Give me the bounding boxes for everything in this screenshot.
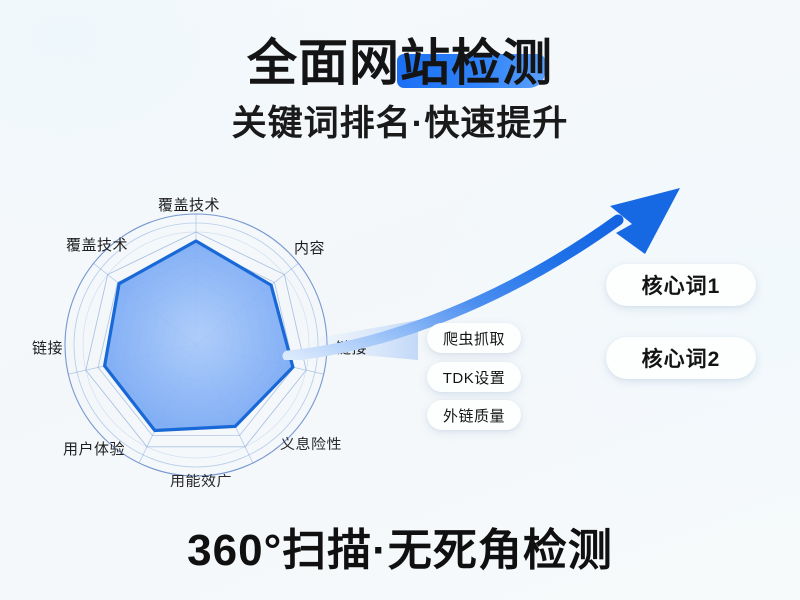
pill-backlink[interactable]: 外链质量 [427, 400, 521, 430]
page-title: 全面网站检测 [247, 32, 553, 94]
radar-axis-label-bottom: 用能效广 [170, 470, 232, 490]
pill-keyword-2-label: 核心词2 [642, 343, 721, 373]
footer-tagline: 360°扫描·无死角检测 [0, 524, 800, 578]
radar-series-area [105, 241, 293, 431]
radar-axis-label-upper-left: 覆盖技术 [66, 234, 128, 255]
pill-keyword-1[interactable]: 核心词1 [606, 264, 756, 306]
headline-group: 全面网站检测 关键词排名·快速提升 [0, 32, 800, 146]
radar-axis-label-lower-right: 义息险性 [280, 433, 342, 453]
page-subtitle: 关键词排名·快速提升 [0, 102, 800, 146]
pill-keyword-2[interactable]: 核心词2 [606, 337, 756, 379]
pill-tdk[interactable]: TDK设置 [427, 362, 521, 392]
radar-axis-label-left: 链接 [32, 337, 63, 358]
page-title-text: 全面网站检测 [247, 35, 553, 91]
pill-crawler[interactable]: 爬虫抓取 [427, 323, 521, 353]
poster-canvas: 全面网站检测 关键词排名·快速提升 [0, 0, 800, 600]
pill-backlink-label: 外链质量 [443, 405, 505, 426]
pill-tdk-label: TDK设置 [443, 367, 506, 388]
radar-axis-label-lower-left: 用户体验 [63, 438, 125, 459]
pill-crawler-label: 爬虫抓取 [443, 328, 505, 349]
radar-axis-label-top: 覆盖技术 [158, 194, 220, 215]
pill-keyword-1-label: 核心词1 [642, 270, 721, 300]
